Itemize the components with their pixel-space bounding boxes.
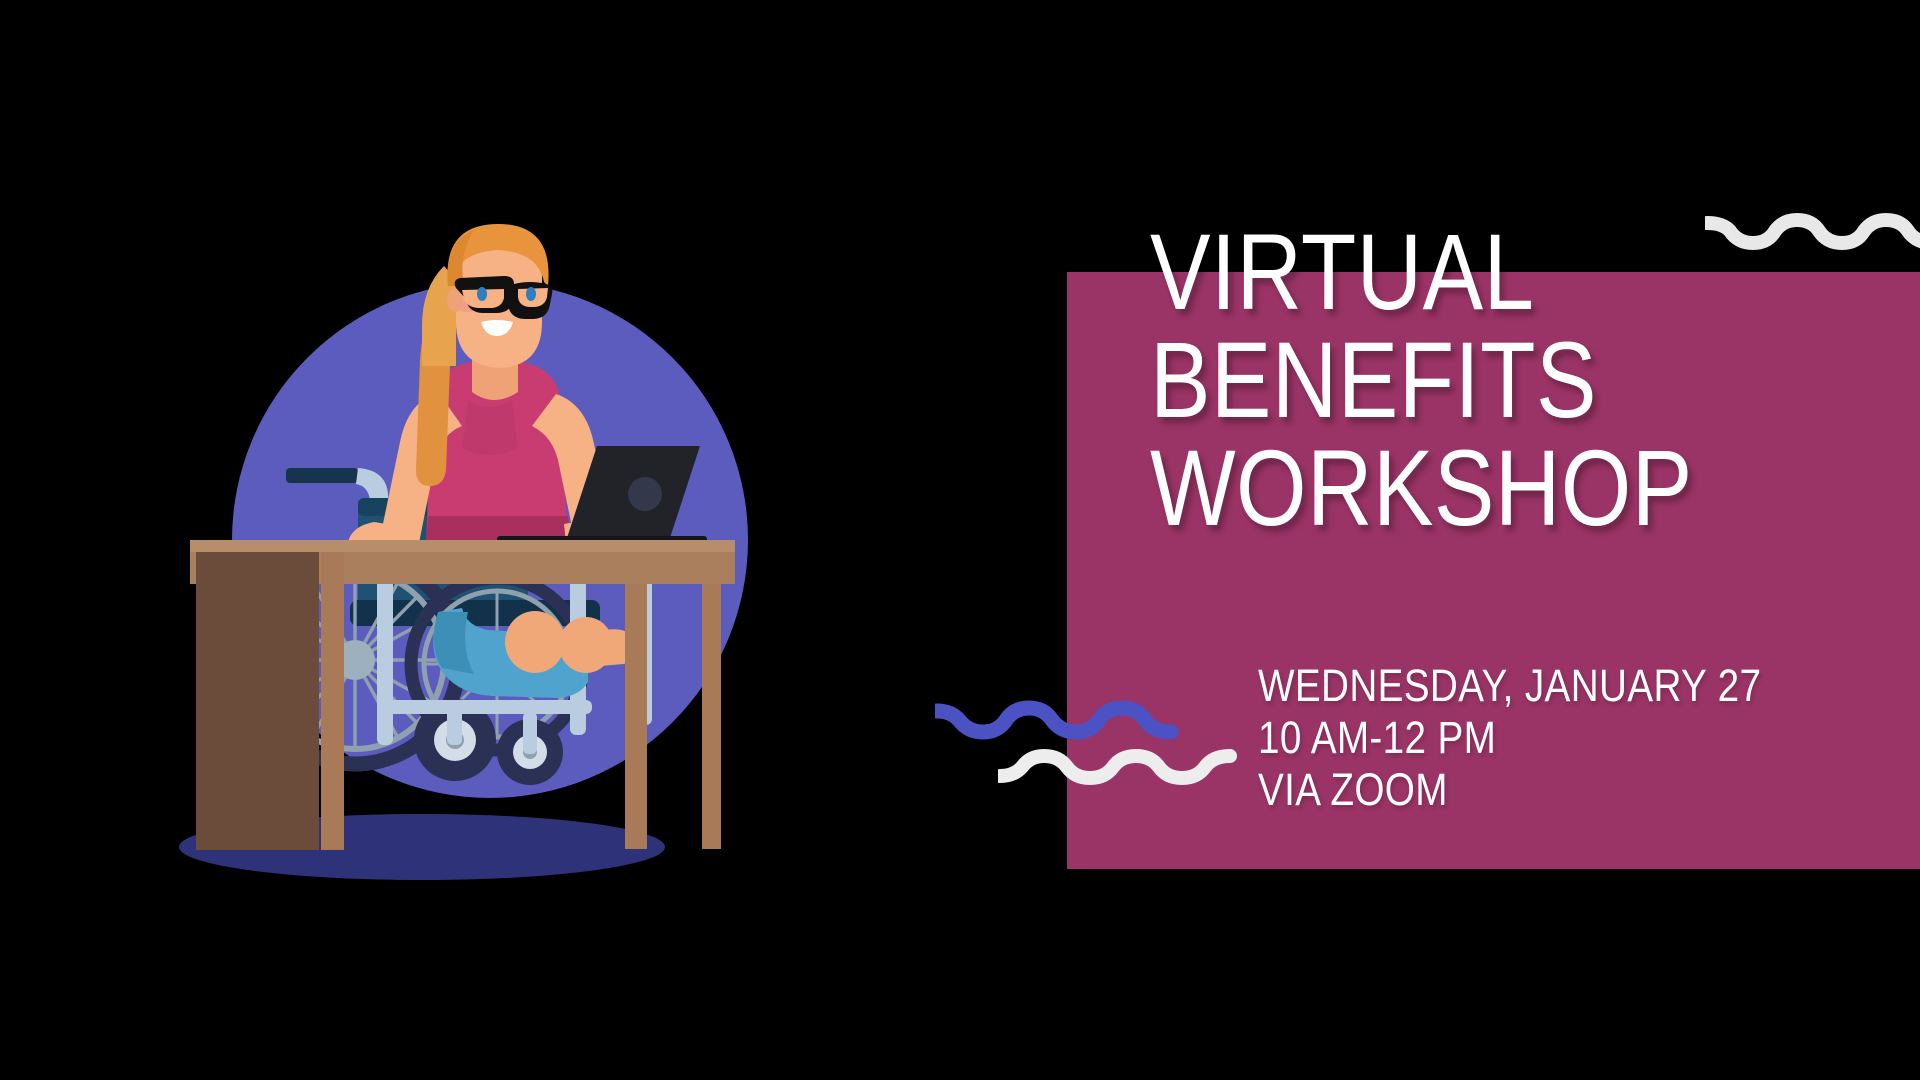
laptop-logo-icon (628, 477, 662, 511)
desk-top-highlight (190, 540, 735, 552)
frame-tube-horizontal (377, 700, 592, 714)
desk-leg-right (625, 584, 647, 849)
desk-leg-center (321, 552, 344, 850)
wheelchair-push-handle (286, 468, 358, 483)
page-title: VIRTUAL BENEFITS WORKSHOP (1150, 218, 1910, 542)
frame-tube-caster-fork-left (447, 700, 462, 745)
desk-leg-far-right (702, 584, 721, 849)
title-line-1: VIRTUAL (1150, 218, 1788, 326)
eye-right (526, 287, 536, 301)
white-squiggle-lower-icon (998, 742, 1238, 793)
title-line-3: WORKSHOP (1150, 434, 1788, 542)
illustration-woman-in-wheelchair (0, 0, 860, 1080)
event-time: 10 AM-12 PM (1258, 712, 1791, 764)
event-platform: VIA ZOOM (1258, 764, 1791, 816)
poster-canvas: VIRTUAL BENEFITS WORKSHOP WEDNESDAY, JAN… (0, 0, 1920, 1080)
frame-tube-caster-fork-right (523, 712, 537, 754)
event-date: WEDNESDAY, JANUARY 27 (1258, 660, 1791, 712)
shirt-chest-fold (462, 400, 518, 455)
blue-squiggle-icon (935, 692, 1181, 745)
desk-left-panel (196, 552, 319, 850)
knee-left (505, 611, 565, 673)
event-details: WEDNESDAY, JANUARY 27 10 AM-12 PM VIA ZO… (1258, 660, 1878, 816)
title-line-2: BENEFITS (1150, 326, 1788, 434)
eye-left (477, 287, 487, 301)
